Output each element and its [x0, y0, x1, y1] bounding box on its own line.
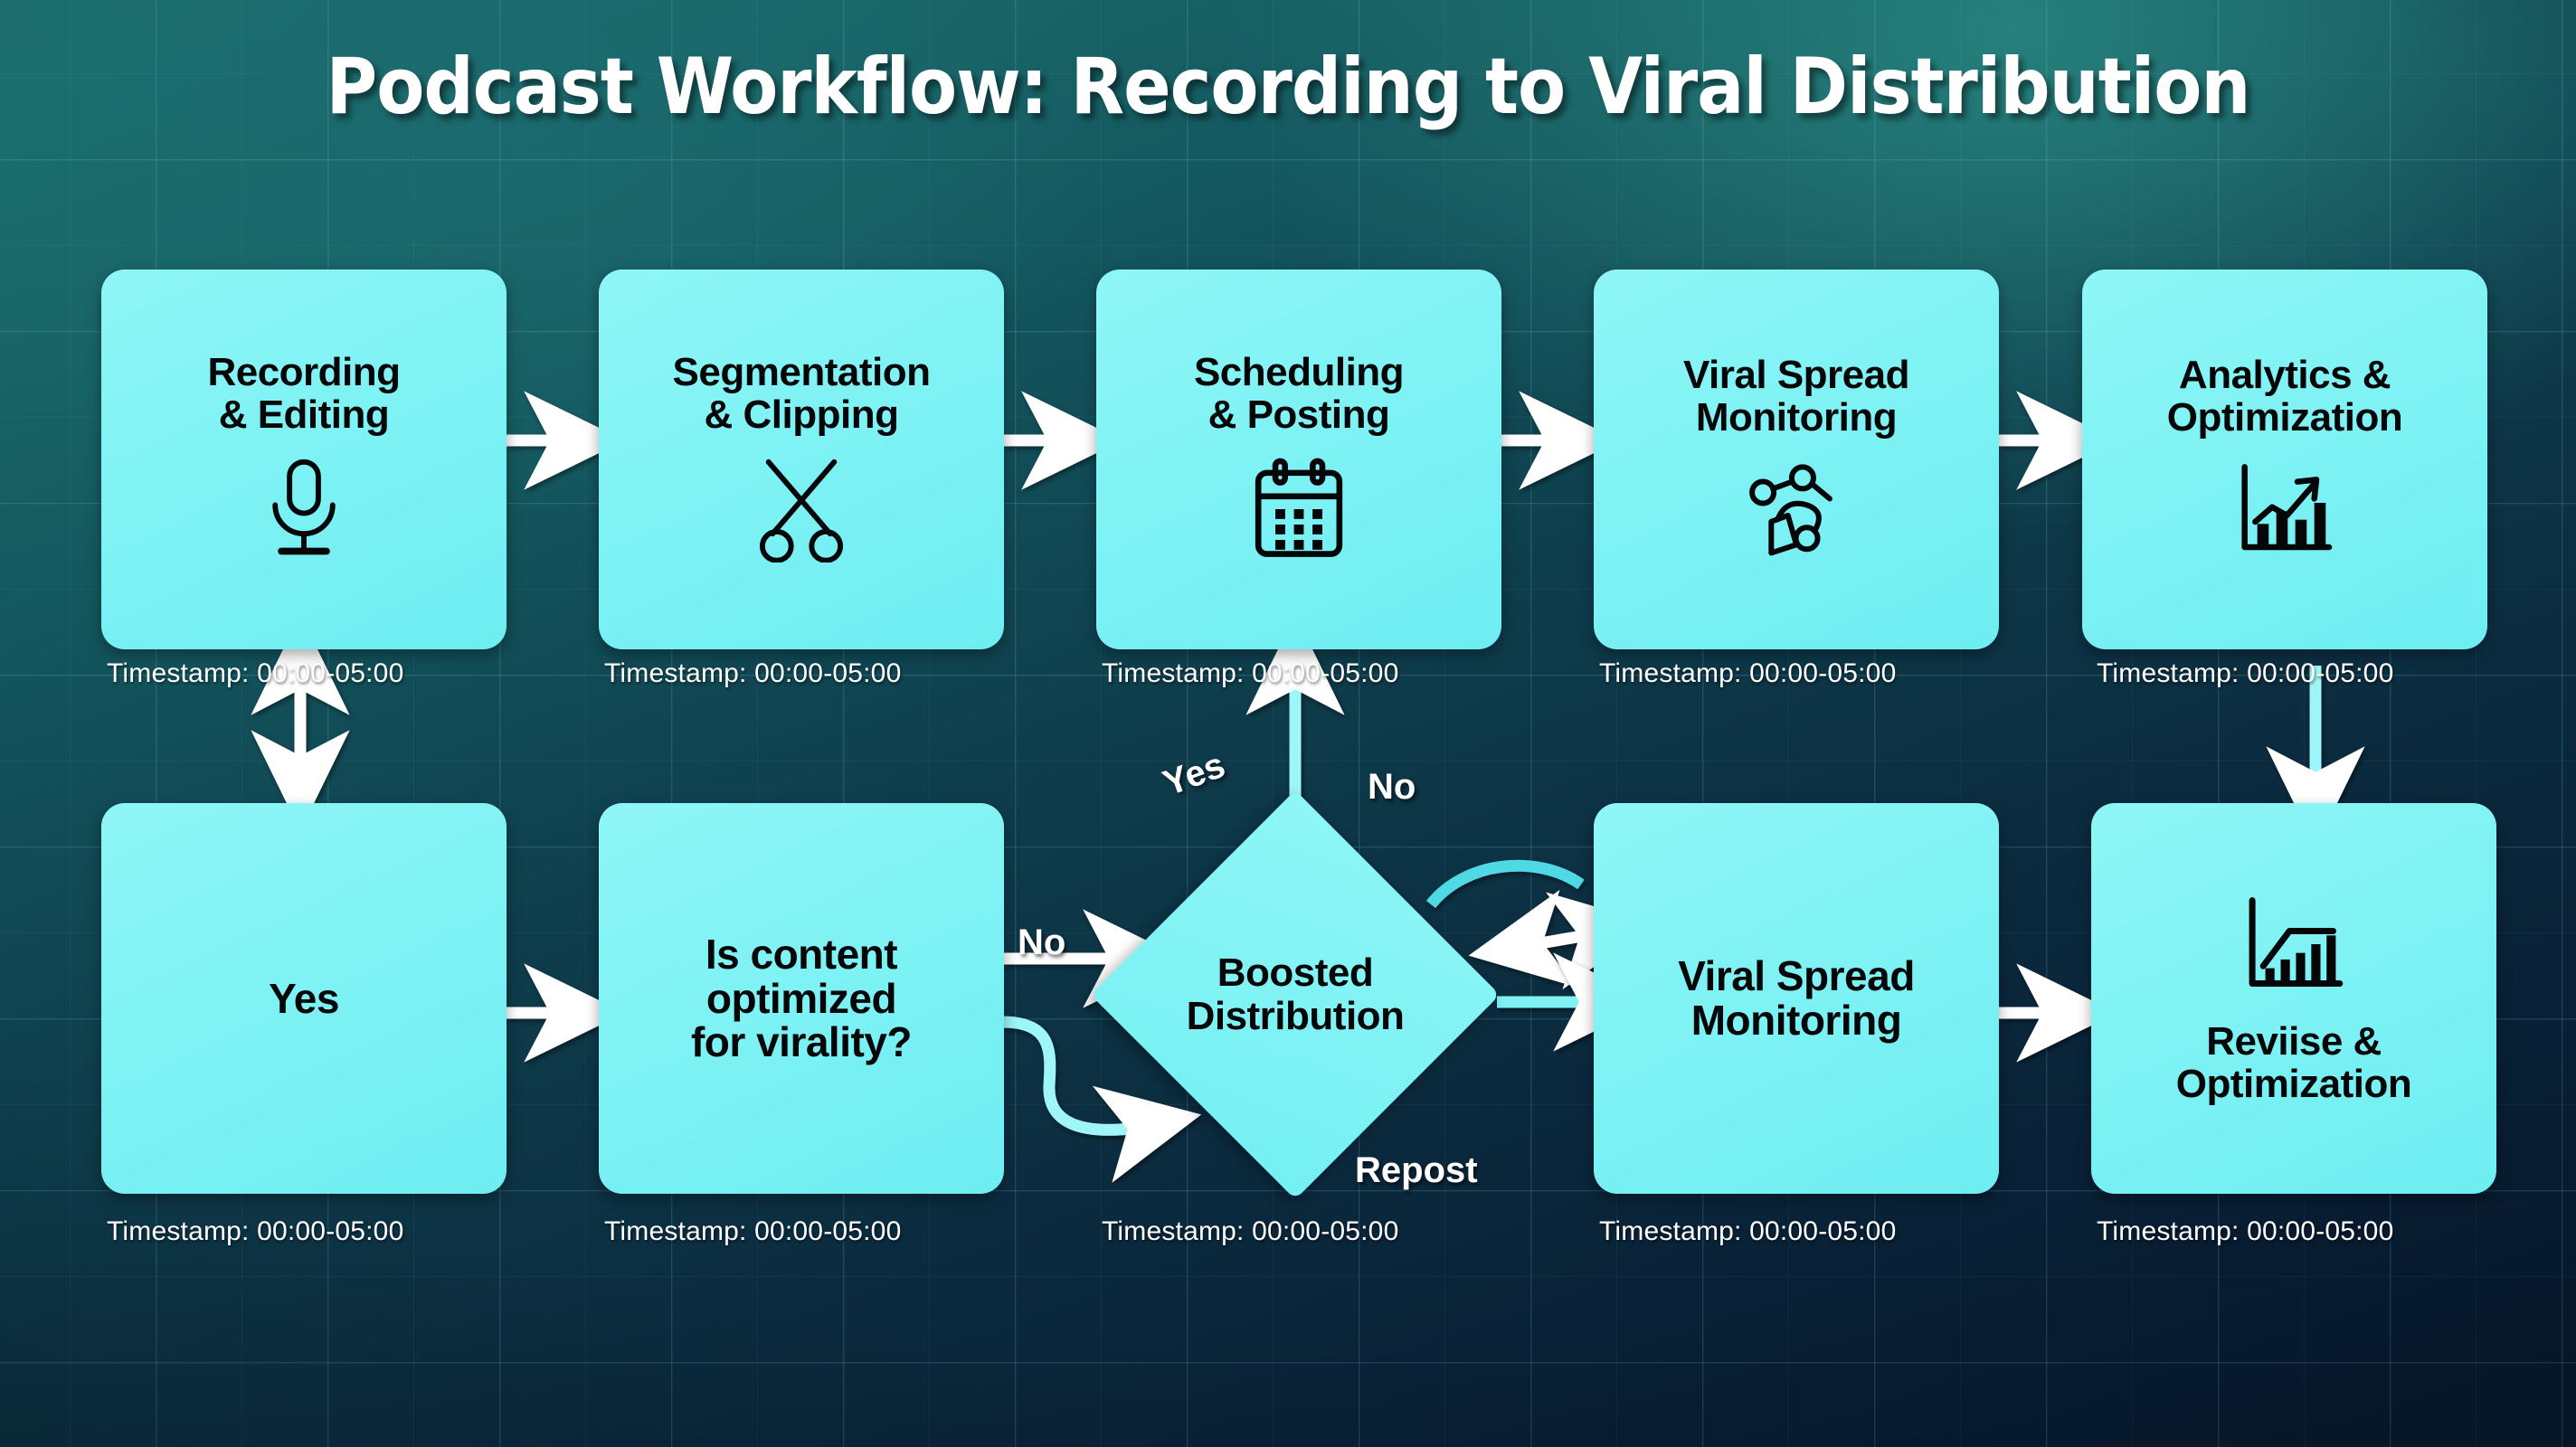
calendar-icon	[1247, 456, 1350, 567]
edge-label-no-question: No	[1018, 922, 1065, 963]
node-label: Is content optimized for virality?	[691, 932, 912, 1064]
node-viral-spread-monitoring-top[interactable]: Viral Spread Monitoring	[1594, 270, 1999, 649]
growth-chart-icon	[2230, 459, 2340, 564]
timestamp-question: Timestamp: 00:00-05:00	[604, 1216, 901, 1247]
node-analytics-optimization[interactable]: Analytics & Optimization	[2082, 270, 2487, 649]
node-label: Recording & Editing	[207, 352, 400, 436]
node-recording[interactable]: Recording & Editing	[101, 270, 507, 649]
timestamp-recording: Timestamp: 00:00-05:00	[107, 658, 403, 689]
node-label: Viral Spread Monitoring	[1683, 355, 1909, 439]
cyan-diamond-arc-to-viral	[1431, 865, 1581, 904]
timestamp-scheduling: Timestamp: 00:00-05:00	[1102, 658, 1398, 689]
node-label: Yes	[269, 977, 339, 1021]
node-label: Scheduling & Posting	[1194, 352, 1404, 436]
node-label: Analytics & Optimization	[2167, 355, 2402, 439]
node-label: Segmentation & Clipping	[673, 352, 931, 436]
node-viral-spread-monitoring-bottom[interactable]: Viral Spread Monitoring	[1594, 803, 1999, 1194]
timestamp-analytics: Timestamp: 00:00-05:00	[2097, 658, 2393, 689]
timestamp-viral-top: Timestamp: 00:00-05:00	[1599, 658, 1896, 689]
timestamp-yes: Timestamp: 00:00-05:00	[107, 1216, 403, 1247]
growth-chart-icon	[2237, 892, 2351, 1001]
diagram-canvas: Podcast Workflow: Recording to Viral Dis…	[0, 0, 2576, 1447]
node-question-optimized[interactable]: Is content optimized for virality?	[599, 803, 1004, 1194]
node-label: Viral Spread Monitoring	[1678, 954, 1915, 1043]
node-label: Reviise & Optimization	[2176, 1021, 2411, 1105]
scissors-icon	[745, 456, 857, 567]
microphone-icon	[253, 456, 355, 567]
node-label-boosted-distribution: Boosted Distribution	[1123, 932, 1467, 1058]
edge-label-no-diamond: No	[1368, 767, 1416, 808]
node-scheduling[interactable]: Scheduling & Posting	[1096, 270, 1501, 649]
node-segmentation[interactable]: Segmentation & Clipping	[599, 270, 1004, 649]
share-network-icon	[1742, 459, 1851, 564]
timestamp-viral-bottom: Timestamp: 00:00-05:00	[1599, 1216, 1896, 1247]
timestamp-revise: Timestamp: 00:00-05:00	[2097, 1216, 2393, 1247]
edge-label-repost: Repost	[1355, 1150, 1478, 1191]
timestamp-boosted: Timestamp: 00:00-05:00	[1102, 1216, 1398, 1247]
timestamp-segmentation: Timestamp: 00:00-05:00	[604, 658, 901, 689]
node-yes[interactable]: Yes	[101, 803, 507, 1194]
node-revise-optimization[interactable]: Reviise & Optimization	[2091, 803, 2496, 1194]
